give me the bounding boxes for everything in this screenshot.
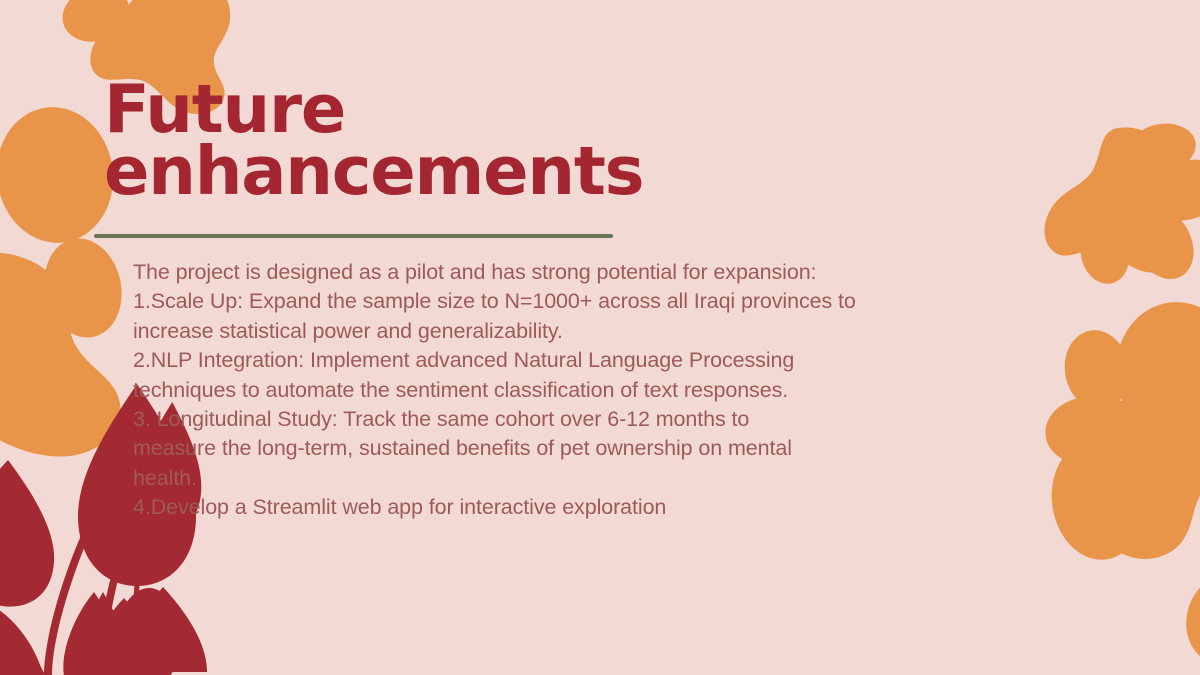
body-text-block: The project is designed as a pilot and h… xyxy=(133,258,933,523)
body-line: techniques to automate the sentiment cla… xyxy=(133,376,933,405)
page-title: Future enhancements xyxy=(104,78,864,203)
body-line: 2.NLP Integration: Implement advanced Na… xyxy=(133,346,933,375)
page-title-line-1: Future xyxy=(104,78,864,140)
body-line: measure the long-term, sustained benefit… xyxy=(133,434,933,463)
body-line: increase statistical power and generaliz… xyxy=(133,317,933,346)
body-line: The project is designed as a pilot and h… xyxy=(133,258,933,287)
body-line: 3. Longitudinal Study: Track the same co… xyxy=(133,405,933,434)
body-line: health. xyxy=(133,464,933,493)
slide-canvas: Future enhancements The project is desig… xyxy=(0,0,1200,675)
body-line: 4.Develop a Streamlit web app for intera… xyxy=(133,493,933,522)
title-divider xyxy=(94,234,613,238)
content-layer: Future enhancements The project is desig… xyxy=(0,0,1200,675)
page-title-line-2: enhancements xyxy=(104,140,864,202)
body-line: 1.Scale Up: Expand the sample size to N=… xyxy=(133,287,933,316)
